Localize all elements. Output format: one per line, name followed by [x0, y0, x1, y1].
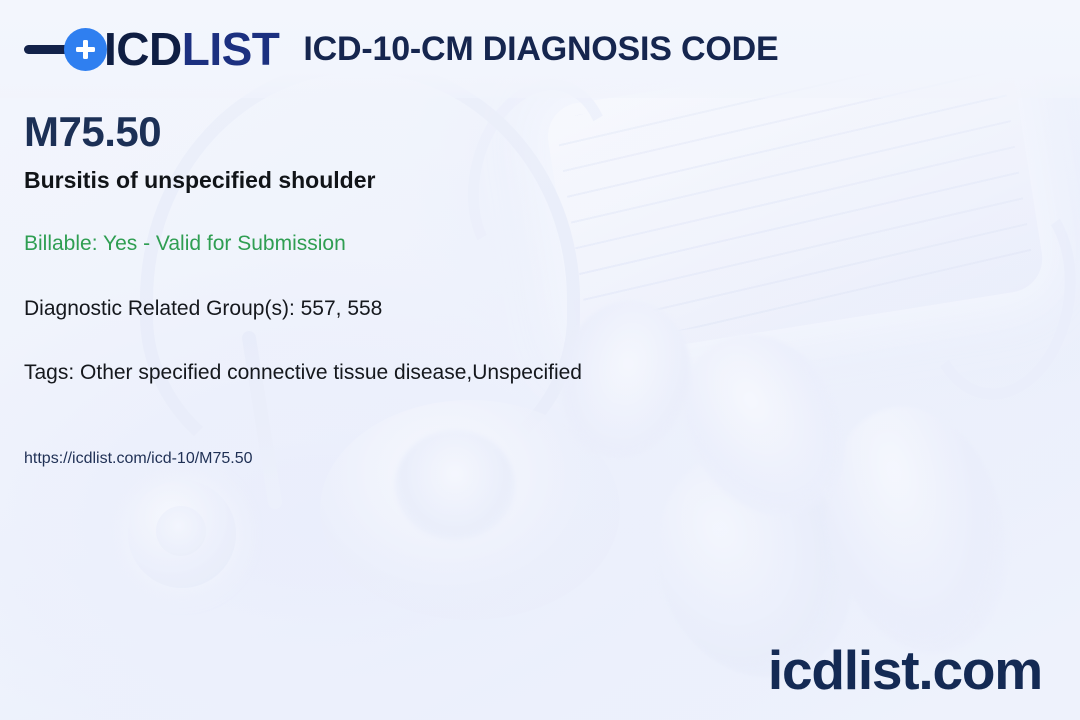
- logo-wordmark: ICDLIST: [104, 26, 279, 72]
- header-title: ICD-10-CM DIAGNOSIS CODE: [303, 32, 778, 66]
- diagnosis-code: M75.50: [24, 108, 1034, 155]
- diagnosis-description: Bursitis of unspecified shoulder: [24, 166, 1034, 195]
- drg-line: Diagnostic Related Group(s): 557, 558: [24, 296, 1034, 322]
- logo-word-list: LIST: [182, 23, 280, 75]
- plus-circle-icon: [64, 28, 107, 71]
- code-details: M75.50 Bursitis of unspecified shoulder …: [24, 108, 1034, 469]
- header-bar: ICDLIST ICD-10-CM DIAGNOSIS CODE: [0, 0, 1080, 98]
- tags-line: Tags: Other specified connective tissue …: [24, 360, 1034, 386]
- icd-code-card: ICDLIST ICD-10-CM DIAGNOSIS CODE M75.50 …: [0, 0, 1080, 720]
- stethoscope-chestpiece-graphic: [128, 480, 236, 588]
- billable-status: Billable: Yes - Valid for Submission: [24, 231, 1034, 257]
- icdlist-logo[interactable]: ICDLIST: [24, 26, 279, 72]
- logo-word-icd: ICD: [104, 23, 182, 75]
- footer-brand: icdlist.com: [768, 643, 1042, 698]
- source-url[interactable]: https://icdlist.com/icd-10/M75.50: [24, 449, 1034, 469]
